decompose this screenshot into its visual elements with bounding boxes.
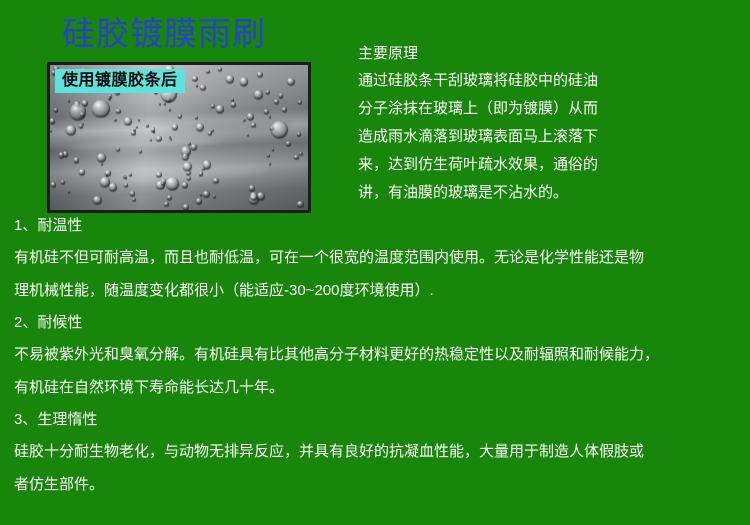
water-droplet xyxy=(74,157,80,163)
water-droplet xyxy=(216,105,223,112)
water-droplet xyxy=(257,192,265,200)
water-droplet xyxy=(59,152,65,158)
water-droplet xyxy=(286,141,291,146)
water-droplet xyxy=(114,119,116,121)
water-droplet xyxy=(183,162,192,171)
water-droplet xyxy=(132,198,136,202)
water-droplet xyxy=(70,103,87,120)
principle-line: 通过硅胶条干刮玻璃将硅胶中的硅油 xyxy=(358,67,748,95)
water-droplet xyxy=(294,155,299,160)
water-droplet xyxy=(133,129,135,131)
water-droplet xyxy=(93,196,102,205)
water-droplet xyxy=(116,148,120,152)
feature-heading: 3、生理惰性 xyxy=(14,404,750,435)
water-droplet-photo: 使用镀膜胶条后 xyxy=(47,62,311,213)
water-droplet xyxy=(167,195,172,200)
water-droplet xyxy=(161,182,164,185)
feature-heading: 2、耐候性 xyxy=(14,307,750,338)
water-droplet xyxy=(105,170,111,176)
water-droplet xyxy=(51,182,55,186)
water-droplet xyxy=(211,104,215,108)
product-detail-page: 硅胶镀膜雨刷 使用镀膜胶条后 主要原理 通过硅胶条干刮玻璃将硅胶中的硅油分子涂抹… xyxy=(0,0,750,525)
water-droplet xyxy=(251,123,255,127)
water-droplet xyxy=(109,183,117,191)
water-droplet xyxy=(172,124,178,130)
water-droplet xyxy=(208,131,212,135)
water-droplet xyxy=(66,125,76,135)
water-droplet xyxy=(79,169,85,175)
principle-heading: 主要原理 xyxy=(358,40,748,67)
feature-block: 2、耐候性不易被紫外光和臭氧分解。有机硅具有比其他高分子材料更好的热稳定性以及耐… xyxy=(14,307,750,404)
water-droplet xyxy=(54,108,58,112)
water-droplet xyxy=(267,154,270,157)
water-droplet xyxy=(130,191,135,196)
feature-block: 3、生理惰性硅胶十分耐生物老化，与动物无排异反应，并具有良好的抗凝血性能，大量用… xyxy=(14,404,750,501)
water-droplet xyxy=(156,172,161,177)
water-droplet xyxy=(129,173,132,176)
water-droplet xyxy=(150,139,152,141)
feature-line: 者仿生部件。 xyxy=(14,468,750,501)
water-droplet xyxy=(125,176,127,178)
water-droplet xyxy=(272,148,275,151)
water-droplet xyxy=(68,190,70,192)
water-droplet xyxy=(297,132,301,136)
feature-line: 有机硅在自然环境下寿命能长达几十年。 xyxy=(14,371,750,404)
water-droplet xyxy=(240,77,248,85)
principle-line: 分子涂抹在玻璃上（即为镀膜）从而 xyxy=(358,95,748,123)
water-droplet xyxy=(269,162,272,165)
water-droplet xyxy=(271,121,288,138)
water-droplet xyxy=(156,136,161,141)
water-droplet xyxy=(50,118,55,123)
water-droplet xyxy=(100,177,110,187)
water-droplet xyxy=(279,93,284,98)
principle-line: 来，达到仿生荷叶疏水效果，通俗的 xyxy=(358,151,748,179)
water-droplet xyxy=(159,103,161,105)
water-droplet xyxy=(206,70,210,74)
principle-section: 主要原理 通过硅胶条干刮玻璃将硅胶中的硅油分子涂抹在玻璃上（即为镀膜）从而造成雨… xyxy=(358,40,748,207)
water-droplet xyxy=(79,124,83,128)
water-droplet xyxy=(203,191,210,198)
photo-caption-badge: 使用镀膜胶条后 xyxy=(55,69,185,93)
feature-line: 不易被紫外光和臭氧分解。有机硅具有比其他高分子材料更好的热稳定性以及耐辐照和耐候… xyxy=(14,338,750,371)
water-droplet xyxy=(287,78,294,85)
water-droplet xyxy=(166,177,179,190)
water-droplet xyxy=(139,150,141,152)
water-droplet xyxy=(97,153,106,162)
feature-heading: 1、耐温性 xyxy=(14,210,750,241)
principle-body: 通过硅胶条干刮玻璃将硅胶中的硅油分子涂抹在玻璃上（即为镀膜）从而造成雨水滴落到玻… xyxy=(358,67,748,207)
water-droplet xyxy=(101,162,103,164)
feature-line: 理机械性能，随温度变化都很小（能适应-30~200度环境使用）. xyxy=(14,274,750,307)
feature-line: 有机硅不但可耐高温，而且也耐低温，可在一个很宽的温度范围内使用。无论是化学性能还… xyxy=(14,241,750,274)
water-droplet xyxy=(188,142,191,145)
water-droplet xyxy=(254,90,263,99)
water-droplet xyxy=(138,119,140,121)
water-droplet xyxy=(226,75,234,83)
water-droplet xyxy=(200,85,205,90)
water-droplet xyxy=(231,102,236,107)
principle-line: 造成雨水滴落到玻璃表面马上滚落下 xyxy=(358,123,748,151)
water-droplet xyxy=(124,183,128,187)
water-droplet xyxy=(182,182,188,188)
water-droplet xyxy=(196,198,202,204)
water-droplet xyxy=(169,108,172,111)
principle-line: 讲，有油膜的玻璃是不沾水的。 xyxy=(358,179,748,207)
water-droplet xyxy=(257,72,262,77)
water-droplet xyxy=(199,171,204,176)
feature-sections: 1、耐温性有机硅不但可耐高温，而且也耐低温，可在一个很宽的温度范围内使用。无论是… xyxy=(14,210,750,501)
water-droplet xyxy=(247,113,254,120)
water-droplet xyxy=(164,102,166,104)
water-droplet xyxy=(146,124,149,127)
water-droplet xyxy=(124,117,132,125)
water-droplet xyxy=(195,116,198,119)
water-droplet xyxy=(164,202,168,206)
water-droplet xyxy=(249,185,255,191)
water-droplet xyxy=(196,84,198,86)
water-droplet xyxy=(116,109,121,114)
feature-block: 1、耐温性有机硅不但可耐高温，而且也耐低温，可在一个很宽的温度范围内使用。无论是… xyxy=(14,210,750,307)
water-droplet xyxy=(151,127,155,131)
water-droplet xyxy=(231,98,234,101)
page-title: 硅胶镀膜雨刷 xyxy=(62,15,266,53)
water-droplet xyxy=(192,76,198,82)
feature-line: 硅胶十分耐生物老化，与动物无排异反应，并具有良好的抗凝血性能，大量用于制造人体假… xyxy=(14,435,750,468)
